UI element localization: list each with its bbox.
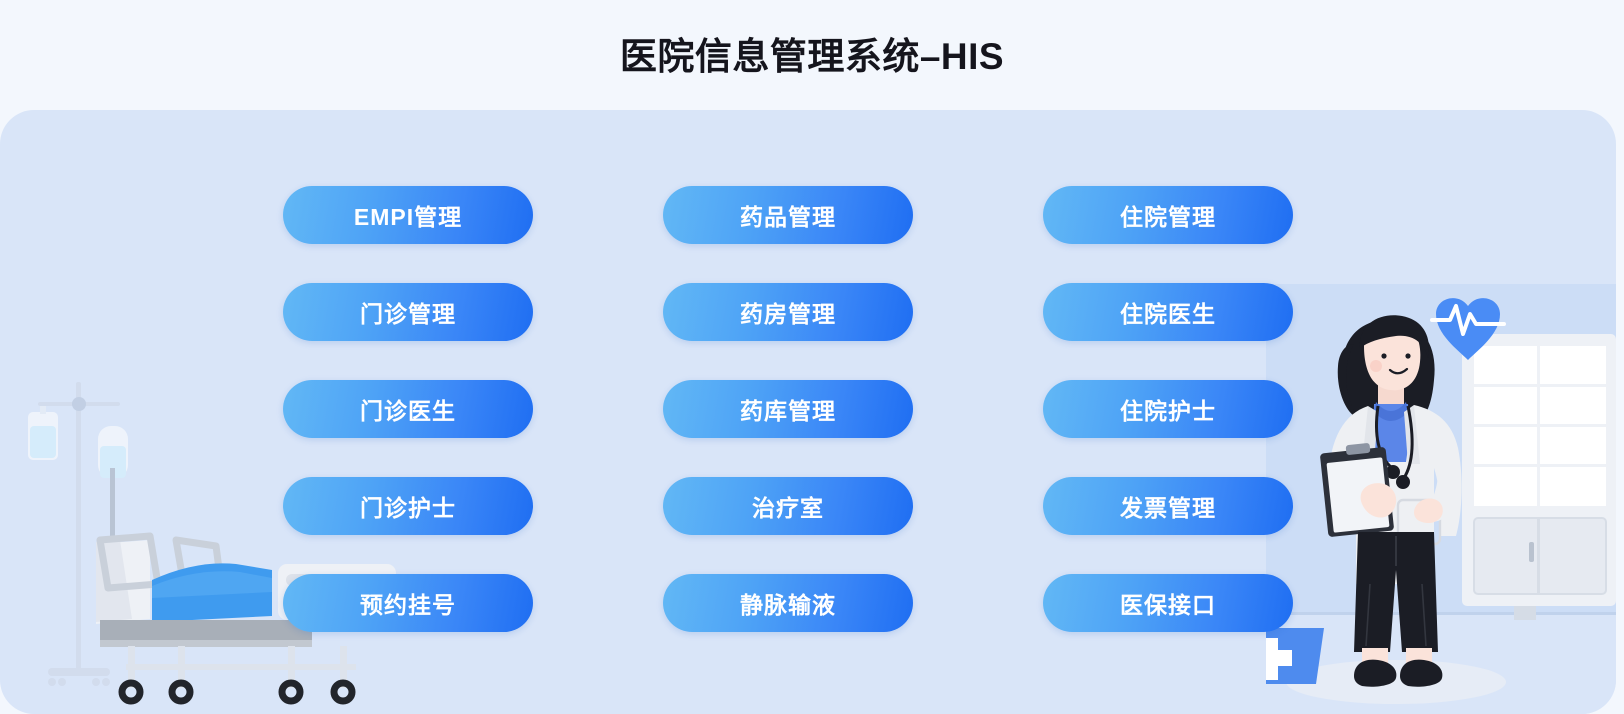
menu-button-pharmacy-management[interactable]: 药房管理 <box>663 283 913 341</box>
doctor-illustration <box>1266 284 1616 714</box>
main-panel: EMPI管理 药品管理 住院管理 门诊管理 药房管理 住院医生 门诊医生 药库管… <box>0 110 1616 714</box>
menu-button-drug-management[interactable]: 药品管理 <box>663 186 913 244</box>
menu-button-empi-management[interactable]: EMPI管理 <box>283 186 533 244</box>
menu-button-outpatient-doctor[interactable]: 门诊医生 <box>283 380 533 438</box>
bed-wheel-icon <box>122 683 352 701</box>
menu-button-medical-insurance-interface[interactable]: 医保接口 <box>1043 574 1293 632</box>
medical-cross-icon <box>1266 628 1324 684</box>
menu-button-treatment-room[interactable]: 治疗室 <box>663 477 913 535</box>
menu-button-inpatient-nurse[interactable]: 住院护士 <box>1043 380 1293 438</box>
menu-button-inpatient-doctor[interactable]: 住院医生 <box>1043 283 1293 341</box>
menu-button-drug-warehouse-management[interactable]: 药库管理 <box>663 380 913 438</box>
iv-bag-icon <box>28 406 58 460</box>
menu-button-outpatient-management[interactable]: 门诊管理 <box>283 283 533 341</box>
menu-button-outpatient-nurse[interactable]: 门诊护士 <box>283 477 533 535</box>
menu-button-invoice-management[interactable]: 发票管理 <box>1043 477 1293 535</box>
menu-button-appointment-registration[interactable]: 预约挂号 <box>283 574 533 632</box>
menu-button-intravenous-infusion[interactable]: 静脉输液 <box>663 574 913 632</box>
menu-button-inpatient-management[interactable]: 住院管理 <box>1043 186 1293 244</box>
page-title: 医院信息管理系统–HIS <box>0 34 1624 80</box>
module-menu-grid: EMPI管理 药品管理 住院管理 门诊管理 药房管理 住院医生 门诊医生 药库管… <box>283 186 1293 632</box>
medical-cabinet-icon <box>1462 334 1616 620</box>
iv-bag-icon <box>98 426 128 538</box>
